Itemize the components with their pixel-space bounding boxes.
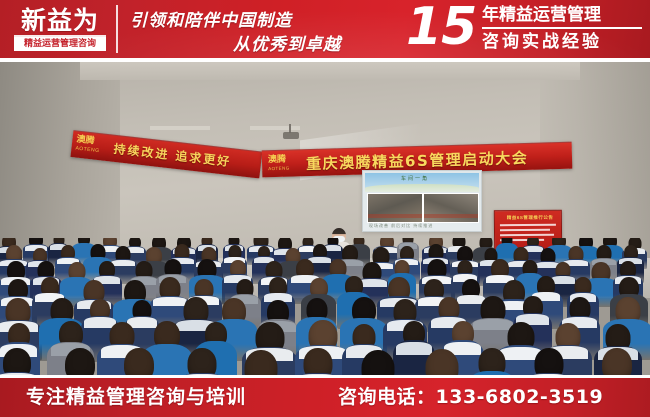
logo-company-name: 新益为: [14, 6, 106, 36]
slide-photo-left: [367, 193, 423, 223]
projection-screen: 车间一角 现场改善 前后对比 持续推进: [362, 170, 482, 232]
audience-head: [534, 348, 563, 375]
slogan-line-2: 从优秀到卓越: [233, 30, 341, 55]
promotional-banner: 新益为 精益运营管理咨询 引领和陪伴中国制造 从优秀到卓越 15 年精益运营管理…: [0, 0, 650, 417]
logo-tagline: 精益运营管理咨询: [14, 37, 106, 51]
audience-crowd: [0, 238, 650, 375]
experience-rule: [482, 27, 642, 29]
left-banner-brand-pinyin: AOTENG: [75, 145, 100, 154]
audience-member: [588, 348, 645, 375]
slide-photo-right: [423, 193, 479, 223]
audience-uniform: [466, 371, 518, 375]
experience-text: 年精益运营管理 咨询实战经验: [482, 3, 642, 54]
experience-years-number: 15: [406, 0, 476, 55]
footer-phone-text[interactable]: 咨询电话：133-6802-3519: [338, 386, 603, 409]
audience-head: [124, 348, 154, 375]
footer-bar: 专注精益管理咨询与培训 咨询电话：133-6802-3519: [0, 378, 650, 417]
room-ceiling: [80, 62, 580, 80]
audience-member: [290, 348, 345, 375]
header-divider: [116, 5, 118, 53]
audience-head: [245, 350, 278, 375]
poster-text-line: [500, 229, 550, 231]
ceiling-light-icon: [150, 126, 210, 130]
audience-member: [110, 348, 168, 375]
uniform-shoulder-stripe: [0, 373, 39, 375]
main-banner-brand-pinyin: AOTENG: [268, 166, 290, 172]
main-banner-brand: 澳腾: [268, 156, 286, 165]
audience-member: [346, 350, 409, 375]
audience-member: [229, 350, 293, 375]
projector-icon: [283, 132, 299, 139]
poster-text-line: [500, 224, 556, 226]
ceiling-light-icon: [250, 126, 300, 130]
audience-head: [425, 349, 458, 375]
audience-member: [521, 348, 576, 375]
slide-hill-shape: [365, 184, 479, 192]
audience-head: [188, 348, 217, 375]
experience-block: 15 年精益运营管理 咨询实战经验: [406, 1, 642, 57]
audience-member: [51, 348, 109, 375]
logo-underline: [14, 35, 106, 37]
slogan-line-1: 引领和陪伴中国制造: [130, 6, 292, 31]
slide-title: 车间一角: [401, 175, 429, 182]
header-bar: 新益为 精益运营管理咨询 引领和陪伴中国制造 从优秀到卓越 15 年精益运营管理…: [0, 0, 650, 58]
company-logo[interactable]: 新益为 精益运营管理咨询: [14, 6, 106, 52]
meeting-photo: 澳腾 AOTENG 持续改进 追求更好 澳腾 AOTENG 重庆澳腾精益6S管理…: [0, 62, 650, 375]
audience-member: [174, 348, 230, 375]
audience-head: [65, 348, 95, 375]
audience-head: [361, 350, 394, 375]
audience-head: [3, 348, 31, 375]
experience-line-1: 年精益运营管理: [482, 3, 642, 27]
wall-poster-title: 精益6S管理推行公告: [507, 215, 554, 221]
poster-text-line: [500, 234, 554, 236]
audience-head: [303, 348, 332, 375]
footer-service-text: 专注精益管理咨询与培训: [26, 386, 246, 409]
audience-head: [602, 348, 632, 375]
experience-line-2: 咨询实战经验: [482, 30, 642, 54]
slide-caption: 现场改善 前后对比 持续推进: [369, 223, 433, 229]
header-slogan: 引领和陪伴中国制造 从优秀到卓越: [128, 4, 398, 54]
audience-member: [0, 348, 43, 375]
audience-member: [410, 349, 473, 375]
audience-member: [466, 348, 518, 375]
